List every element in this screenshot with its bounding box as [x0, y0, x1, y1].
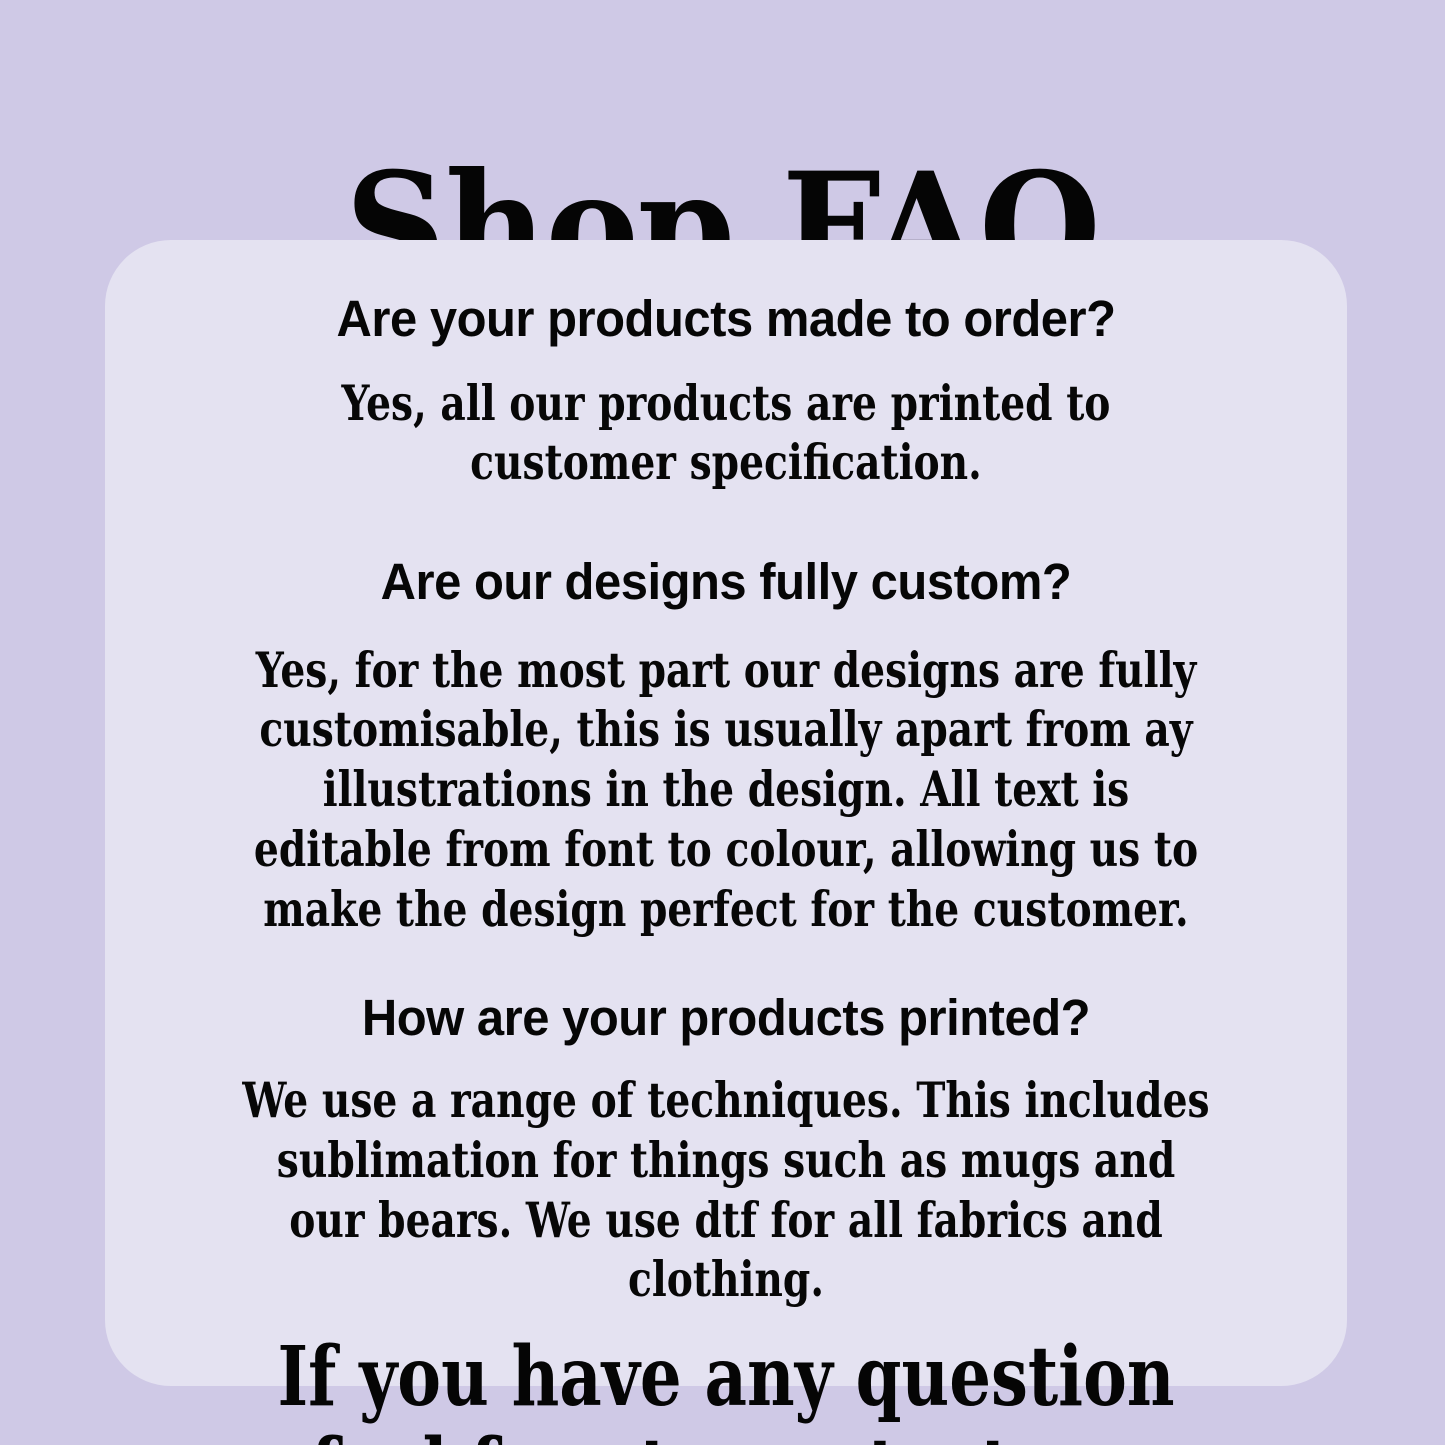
faq-closing-statement: If you have any question feel free to co…: [229, 1332, 1223, 1445]
faq-answer-2: Yes, for the most part our designs are f…: [229, 641, 1223, 940]
faq-question-3: How are your products printed?: [130, 991, 1322, 1045]
faq-answer-3: We use a range of techniques. This inclu…: [229, 1071, 1223, 1310]
faq-content: Are your products made to order? Yes, al…: [105, 240, 1347, 1445]
faq-answer-1: Yes, all our products are printed to cus…: [229, 374, 1223, 494]
faq-poster: Shop FAQ Are your products made to order…: [0, 0, 1445, 1445]
faq-question-1: Are your products made to order?: [130, 292, 1322, 346]
faq-question-2: Are our designs fully custom?: [130, 555, 1322, 609]
